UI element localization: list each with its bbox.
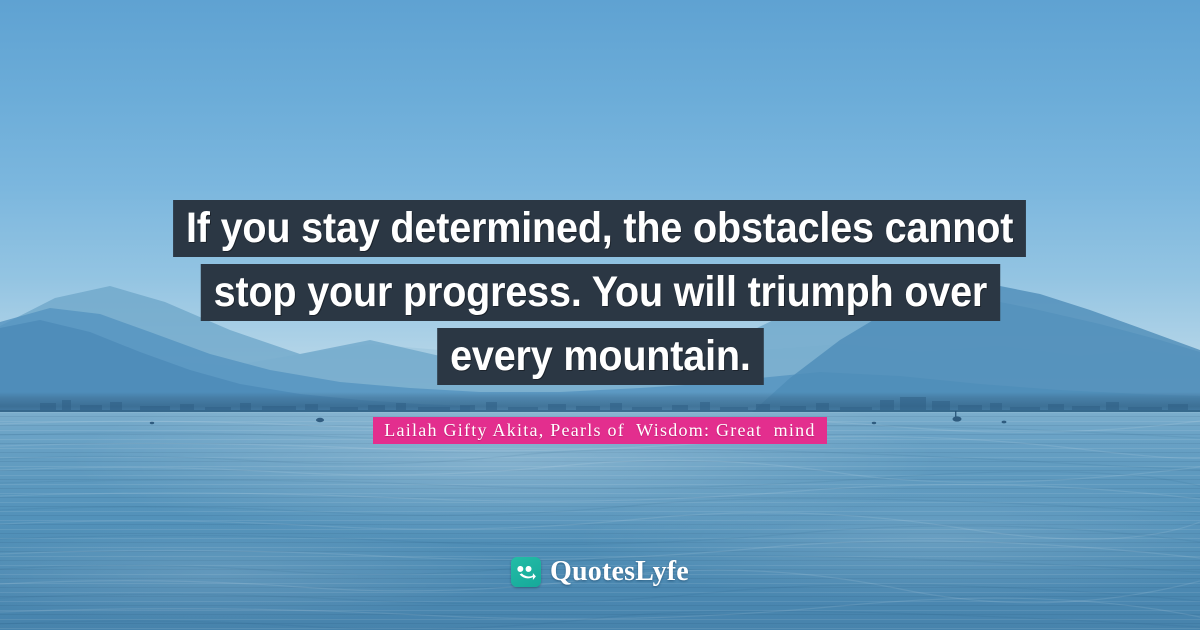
quote-line-3: every mountain. [437, 328, 763, 385]
water-surface [0, 412, 1200, 630]
brand-logo[interactable]: QuotesLyfe [0, 556, 1200, 588]
quote-mark-icon [511, 557, 541, 587]
attribution-row: Lailah Gifty Akita, Pearls of Wisdom: Gr… [0, 417, 1200, 444]
quote-line-row: stop your progress. You will triumph ove… [0, 264, 1200, 321]
attribution-text: Lailah Gifty Akita, Pearls of Wisdom: Gr… [373, 417, 826, 444]
brand-name: QuotesLyfe [550, 556, 689, 588]
quote-line-row: If you stay determined, the obstacles ca… [0, 200, 1200, 257]
quote-line-1: If you stay determined, the obstacles ca… [173, 200, 1026, 257]
quote-card: If you stay determined, the obstacles ca… [0, 0, 1200, 630]
quote-line-2: stop your progress. You will triumph ove… [200, 264, 999, 321]
quote-line-row: every mountain. [0, 328, 1200, 385]
quote-block: If you stay determined, the obstacles ca… [0, 200, 1200, 385]
